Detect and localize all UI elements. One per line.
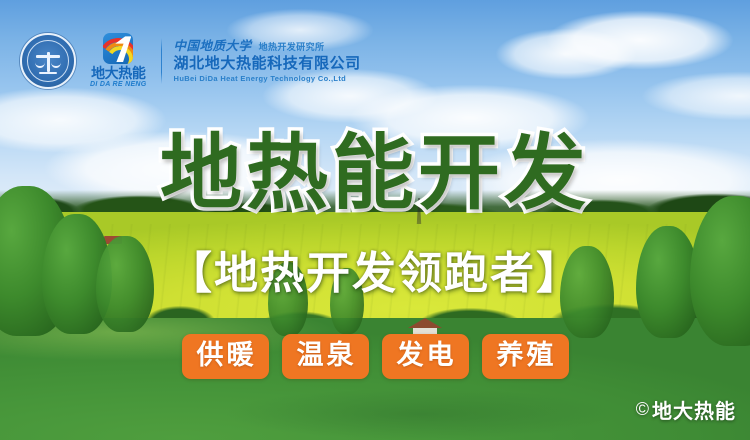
page-subtitle: 【地热开发领跑者】: [0, 252, 750, 296]
university-name: 中国地质大学: [174, 39, 252, 53]
header-divider: [161, 38, 162, 84]
copyright-icon: ©: [636, 399, 650, 420]
watermark-text: 地大热能: [652, 395, 736, 424]
tag-power-generation[interactable]: 发电: [382, 334, 469, 379]
rainbow-logo-icon: [103, 33, 133, 64]
brand-logo: 地大热能 DI DA RE NENG: [90, 33, 147, 88]
seal-wing-left: [35, 57, 45, 68]
organization-block: 中国地质大学 地热开发研究所 湖北地大热能科技有限公司 HuBei DiDa H…: [174, 39, 361, 83]
brand-name-cn: 地大热能: [91, 66, 145, 81]
seal-base: [39, 72, 57, 75]
institute-name: 地热开发研究所: [259, 42, 325, 52]
service-tag-list: 供暖 温泉 发电 养殖: [0, 334, 750, 379]
tag-aquaculture[interactable]: 养殖: [482, 334, 569, 379]
brand-header: 地大热能 DI DA RE NENG 中国地质大学 地热开发研究所 湖北地大热能…: [20, 30, 361, 92]
promo-banner: 地大热能 DI DA RE NENG 中国地质大学 地热开发研究所 湖北地大热能…: [0, 0, 750, 440]
seal-stem: [47, 52, 50, 72]
organization-line-1: 中国地质大学 地热开发研究所: [174, 39, 361, 53]
farmhouse-roof: [408, 318, 442, 328]
company-name-en: HuBei DiDa Heat Energy Technology Co.,Lt…: [174, 75, 361, 84]
brand-name-en: DI DA RE NENG: [90, 81, 147, 89]
copyright-watermark: © 地大热能: [636, 395, 736, 424]
page-title: 地热能开发: [0, 133, 750, 215]
tag-hot-spring[interactable]: 温泉: [282, 334, 369, 379]
seal-wing-right: [51, 57, 61, 68]
seal-emblem: [35, 50, 61, 74]
cug-seal-icon: [20, 33, 76, 89]
tag-heating[interactable]: 供暖: [182, 334, 269, 379]
company-name-cn: 湖北地大热能科技有限公司: [174, 55, 361, 72]
